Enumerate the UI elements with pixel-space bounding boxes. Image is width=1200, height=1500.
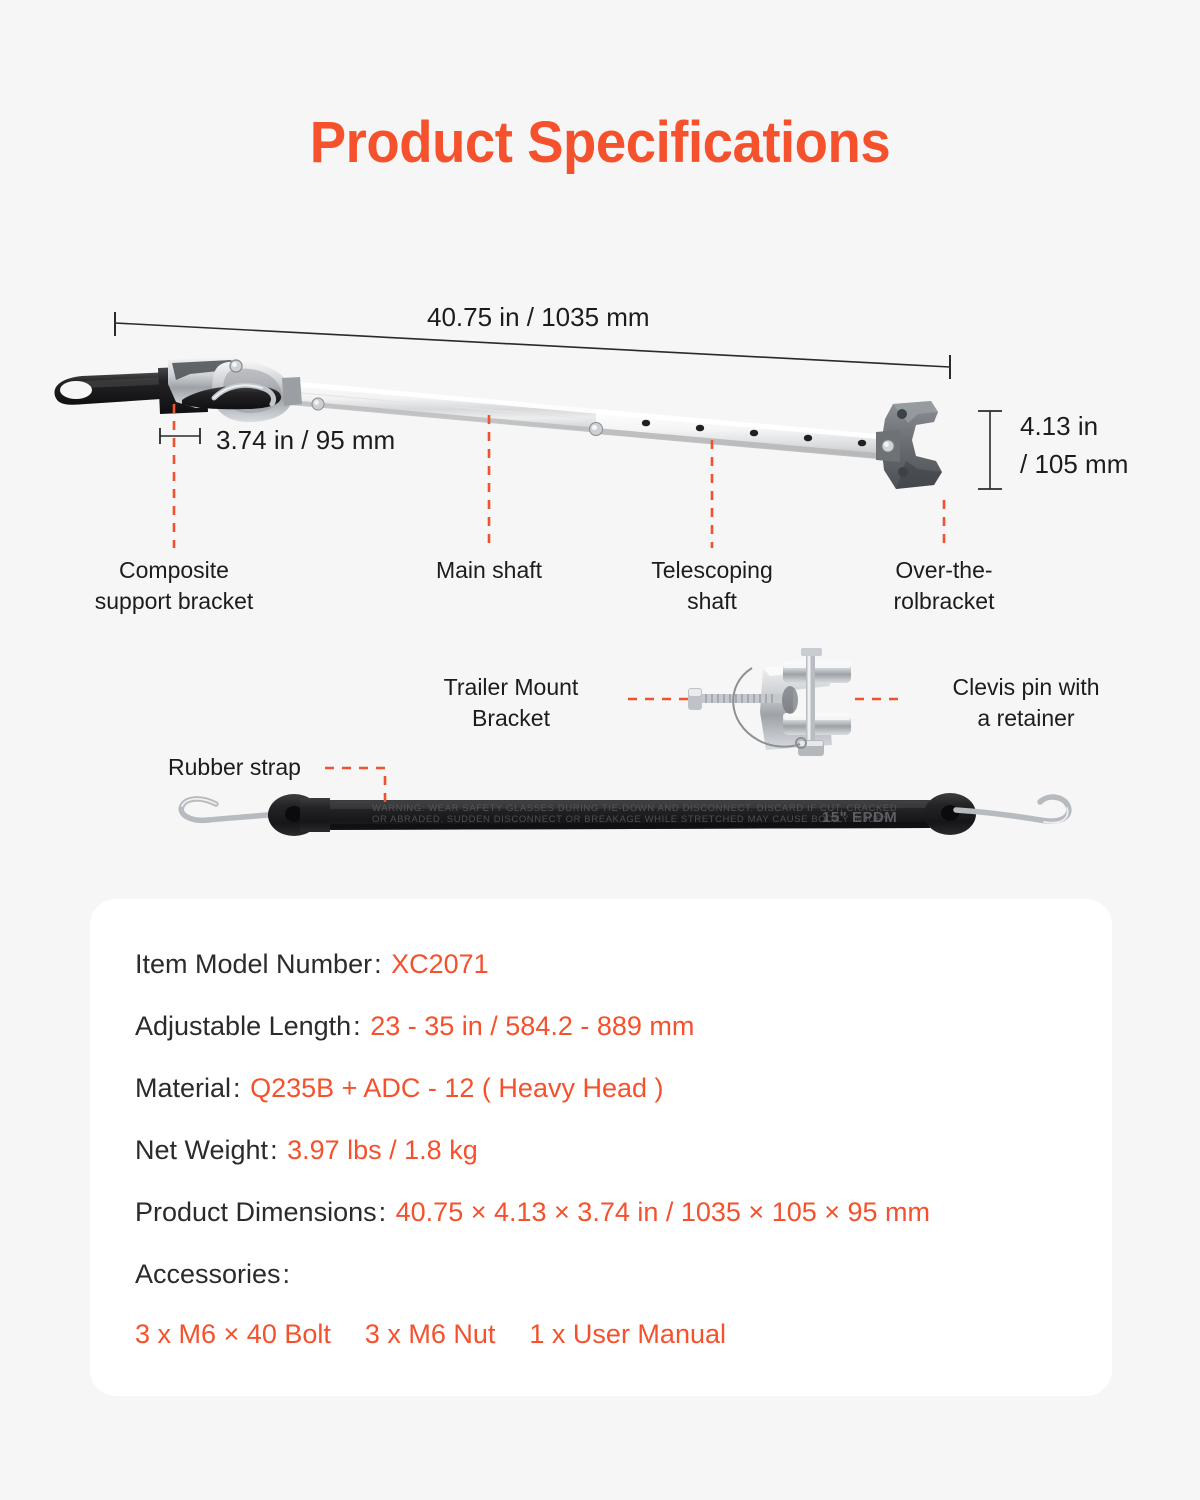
- spec-value: 23 - 35 in / 584.2 - 889 mm: [370, 1011, 694, 1041]
- spec-separator: :: [351, 1011, 363, 1041]
- spec-key: Accessories: [135, 1259, 281, 1289]
- strap-left-hook: [181, 799, 278, 820]
- strap-warning-line2: OR ABRADED. SUDDEN DISCONNECT OR BREAKAG…: [372, 814, 892, 825]
- spec-row-item-model-number: Item Model Number: XC2071: [135, 933, 1092, 995]
- spec-separator: :: [281, 1259, 293, 1289]
- spec-separator: :: [377, 1197, 389, 1227]
- spec-key: Net Weight: [135, 1135, 268, 1165]
- hook-height-label-line1: 4.13 in: [1020, 411, 1098, 442]
- extendable-support-bar: [54, 357, 942, 489]
- spec-row-accessories: Accessories:: [135, 1243, 1092, 1305]
- callout-clevis-pin: Clevis pin with a retainer: [916, 672, 1136, 734]
- bracket-width-dimension: [160, 428, 200, 444]
- callout-over-the-roll-bracket: Over-the- rolbracket: [844, 555, 1044, 617]
- strap-warning-line1: WARNING: WEAR SAFETY GLASSES DURING TIE-…: [372, 803, 897, 814]
- accessory-nut: 3 x M6 Nut: [365, 1319, 530, 1349]
- trailer-mount-bracket-part: [688, 648, 851, 756]
- rubber-strap-part: WARNING: WEAR SAFETY GLASSES DURING TIE-…: [181, 793, 1069, 836]
- spec-separator: :: [268, 1135, 280, 1165]
- composite-support-bracket-part: [54, 357, 302, 422]
- spec-value: 40.75 × 4.13 × 3.74 in / 1035 × 105 × 95…: [396, 1197, 930, 1227]
- callout-composite-support-bracket: Composite support bracket: [34, 555, 314, 617]
- spec-separator: :: [231, 1073, 243, 1103]
- spec-value: 3.97 lbs / 1.8 kg: [287, 1135, 478, 1165]
- spec-key: Product Dimensions: [135, 1197, 377, 1227]
- hook-height-dimension: [978, 411, 1002, 489]
- spec-separator: :: [372, 949, 384, 979]
- spec-key: Item Model Number: [135, 949, 372, 979]
- accessories-row: 3 x M6 × 40 Bolt3 x M6 Nut1 x User Manua…: [135, 1305, 1092, 1363]
- spec-row-material: Material: Q235B + ADC - 12 ( Heavy Head …: [135, 1057, 1092, 1119]
- spec-key: Material: [135, 1073, 231, 1103]
- overall-length-label: 40.75 in / 1035 mm: [427, 302, 650, 333]
- spec-value: XC2071: [391, 949, 489, 979]
- callout-trailer-mount-bracket: Trailer Mount Bracket: [400, 672, 622, 734]
- spec-row-net-weight: Net Weight: 3.97 lbs / 1.8 kg: [135, 1119, 1092, 1181]
- spec-row-adjustable-length: Adjustable Length: 23 - 35 in / 584.2 - …: [135, 995, 1092, 1057]
- accessory-bolt: 3 x M6 × 40 Bolt: [135, 1319, 365, 1349]
- telescoping-shaft-part: [596, 409, 900, 461]
- product-specification-page: Product Specifications: [0, 0, 1200, 1500]
- callout-telescoping-shaft: Telescoping shaft: [612, 555, 812, 617]
- callout-main-shaft: Main shaft: [389, 555, 589, 586]
- accessory-user-manual: 1 x User Manual: [529, 1319, 760, 1349]
- specifications-list: Item Model Number: XC2071 Adjustable Len…: [135, 933, 1092, 1363]
- specifications-card: Item Model Number: XC2071 Adjustable Len…: [90, 899, 1112, 1396]
- spec-row-product-dimensions: Product Dimensions: 40.75 × 4.13 × 3.74 …: [135, 1181, 1092, 1243]
- spec-key: Adjustable Length: [135, 1011, 351, 1041]
- spec-value: Q235B + ADC - 12 ( Heavy Head ): [250, 1073, 663, 1103]
- hook-height-label-line2: / 105 mm: [1020, 449, 1128, 480]
- strap-size-mark: 15" EPDM: [822, 809, 897, 826]
- callout-rubber-strap: Rubber strap: [168, 752, 318, 783]
- bracket-width-label: 3.74 in / 95 mm: [216, 425, 395, 456]
- over-the-roll-bracket-part: [876, 401, 942, 489]
